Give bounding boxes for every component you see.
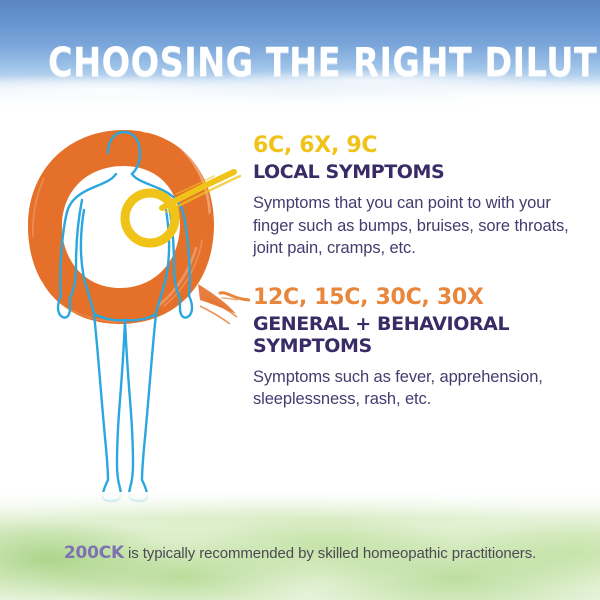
footer-dilution-code: 200CK [64,543,124,563]
page-title: CHOOSING THE RIGHT DILUTION [48,41,552,85]
illustration-area [0,108,250,528]
footer-note-text: is typically recommended by skilled home… [124,545,536,562]
content-column: 6C, 6X, 9C LOCAL SYMPTOMS Symptoms that … [253,132,591,411]
grass-top-fade [0,492,600,518]
block-title-local: LOCAL SYMPTOMS [253,161,591,183]
dilution-code-general: 12C, 15C, 30C, 30X [253,284,591,311]
dilution-block-general: 12C, 15C, 30C, 30X GENERAL + BEHAVIORAL … [253,284,591,411]
header-banner: CHOOSING THE RIGHT DILUTION [0,0,600,108]
orange-brush-dash-icon [218,290,250,304]
body-illustration-svg [0,108,250,528]
dilution-code-local: 6C, 6X, 9C [253,132,591,159]
infographic-root: CHOOSING THE RIGHT DILUTION [0,0,600,600]
block-body-local: Symptoms that you can point to with your… [253,192,578,260]
block-body-general: Symptoms such as fever, apprehension, sl… [253,366,578,411]
dilution-block-local: 6C, 6X, 9C LOCAL SYMPTOMS Symptoms that … [253,132,591,260]
footer-note: 200CK is typically recommended by skille… [0,543,600,564]
block-title-general: GENERAL + BEHAVIORAL SYMPTOMS [253,313,591,357]
